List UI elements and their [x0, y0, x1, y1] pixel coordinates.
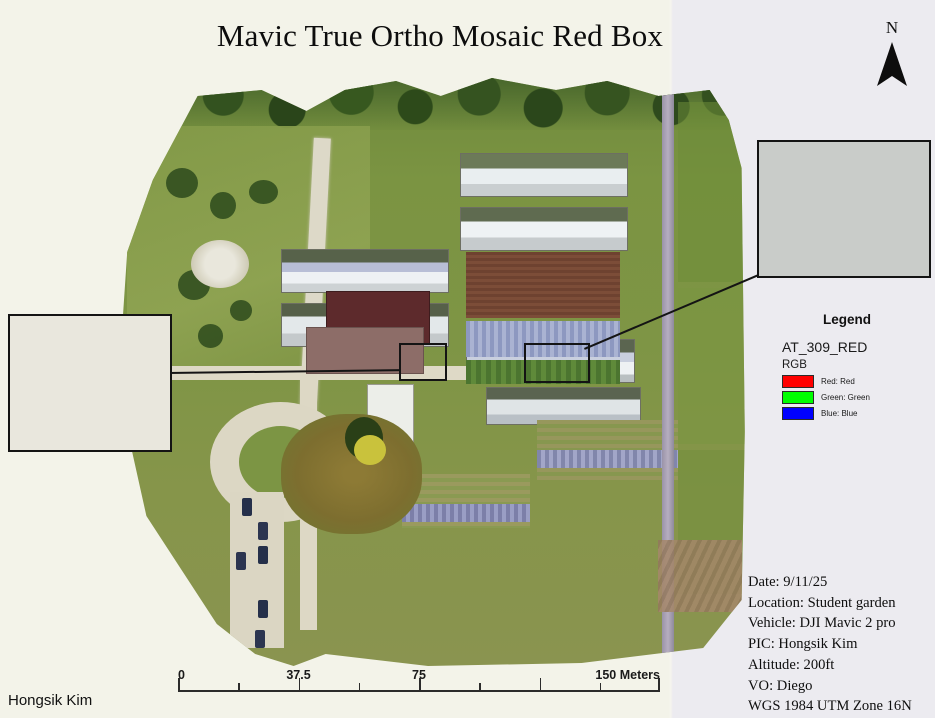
crop-rows-covered [402, 504, 530, 522]
page-title: Mavic True Ortho Mosaic Red Box [120, 18, 760, 54]
meta-altitude: Altitude: 200ft [748, 655, 935, 676]
north-arrow: N [866, 18, 918, 90]
tree-cluster [210, 192, 236, 219]
parked-car [236, 552, 246, 570]
crop-rows-covered [537, 450, 678, 468]
meta-location: Location: Student garden [748, 593, 935, 614]
parking-lot [230, 492, 284, 648]
legend-label-red: Red: Red [821, 377, 855, 386]
legend-row-green: Green: Green [782, 391, 932, 404]
callout-box-right[interactable] [524, 343, 590, 383]
parked-car [258, 546, 268, 564]
map-layout-canvas: Mavic True Ortho Mosaic Red Box N [0, 0, 935, 718]
legend-row-red: Red: Red [782, 375, 932, 388]
meta-pic: PIC: Hongsik Kim [748, 634, 935, 655]
scale-bar-tick [359, 683, 361, 692]
meta-vehicle: Vehicle: DJI Mavic 2 pro [748, 613, 935, 634]
scale-bar-tick [419, 678, 421, 692]
greenhouse [281, 249, 449, 293]
legend-label-green: Green: Green [821, 393, 870, 402]
tree-cluster [230, 300, 252, 321]
legend-swatch-green [782, 391, 814, 404]
north-arrow-icon [876, 40, 908, 88]
meta-date: Date: 9/11/25 [748, 572, 935, 593]
field-east-middle [678, 288, 748, 444]
inset-right[interactable] [757, 140, 931, 278]
greenhouse [460, 207, 628, 251]
inset-left-white-strip [10, 316, 170, 450]
inset-right-path [759, 142, 929, 276]
parked-car [242, 498, 252, 516]
dirt-patch-southeast [658, 540, 741, 612]
legend-swatch-blue [782, 407, 814, 420]
legend-heading: Legend [762, 312, 932, 327]
meta-crs: WGS 1984 UTM Zone 16N [748, 696, 935, 717]
treeline [108, 72, 748, 130]
field-east-north [678, 102, 748, 282]
metadata-block: Date: 9/11/25 Location: Student garden V… [748, 572, 935, 717]
scale-bar: 037.575150 Meters [178, 668, 660, 708]
parked-car [258, 522, 268, 540]
meta-vo: VO: Diego [748, 676, 935, 697]
legend-swatch-red [782, 375, 814, 388]
scale-bar-tick [238, 683, 240, 692]
legend: Legend AT_309_RED RGB Red: Red Green: Gr… [762, 312, 932, 423]
callout-box-left[interactable] [399, 343, 447, 381]
legend-layer-name: AT_309_RED [782, 339, 932, 355]
tree-cluster [249, 180, 278, 204]
scale-bar-tick [658, 678, 660, 692]
legend-sublabel: RGB [782, 359, 932, 371]
legend-label-blue: Blue: Blue [821, 409, 857, 418]
parked-car [258, 600, 268, 618]
author-credit: Hongsik Kim [8, 692, 92, 709]
scale-bar-tick [479, 683, 481, 692]
scale-bar-tick [600, 683, 602, 692]
inset-left[interactable] [8, 314, 172, 452]
north-arrow-label: N [866, 18, 918, 38]
parked-car [255, 630, 265, 648]
tree-cluster [166, 168, 198, 198]
legend-row-blue: Blue: Blue [782, 407, 932, 420]
gravel-patch [191, 240, 249, 288]
scale-bar-tick [540, 678, 542, 692]
scale-bar-label: 150 Meters [595, 668, 660, 682]
cultivated-plot-bare-soil [466, 252, 620, 318]
tree-cluster [198, 324, 224, 348]
scale-bar-tick [299, 678, 301, 692]
scale-bar-tick [178, 678, 180, 692]
greenhouse [460, 153, 628, 197]
